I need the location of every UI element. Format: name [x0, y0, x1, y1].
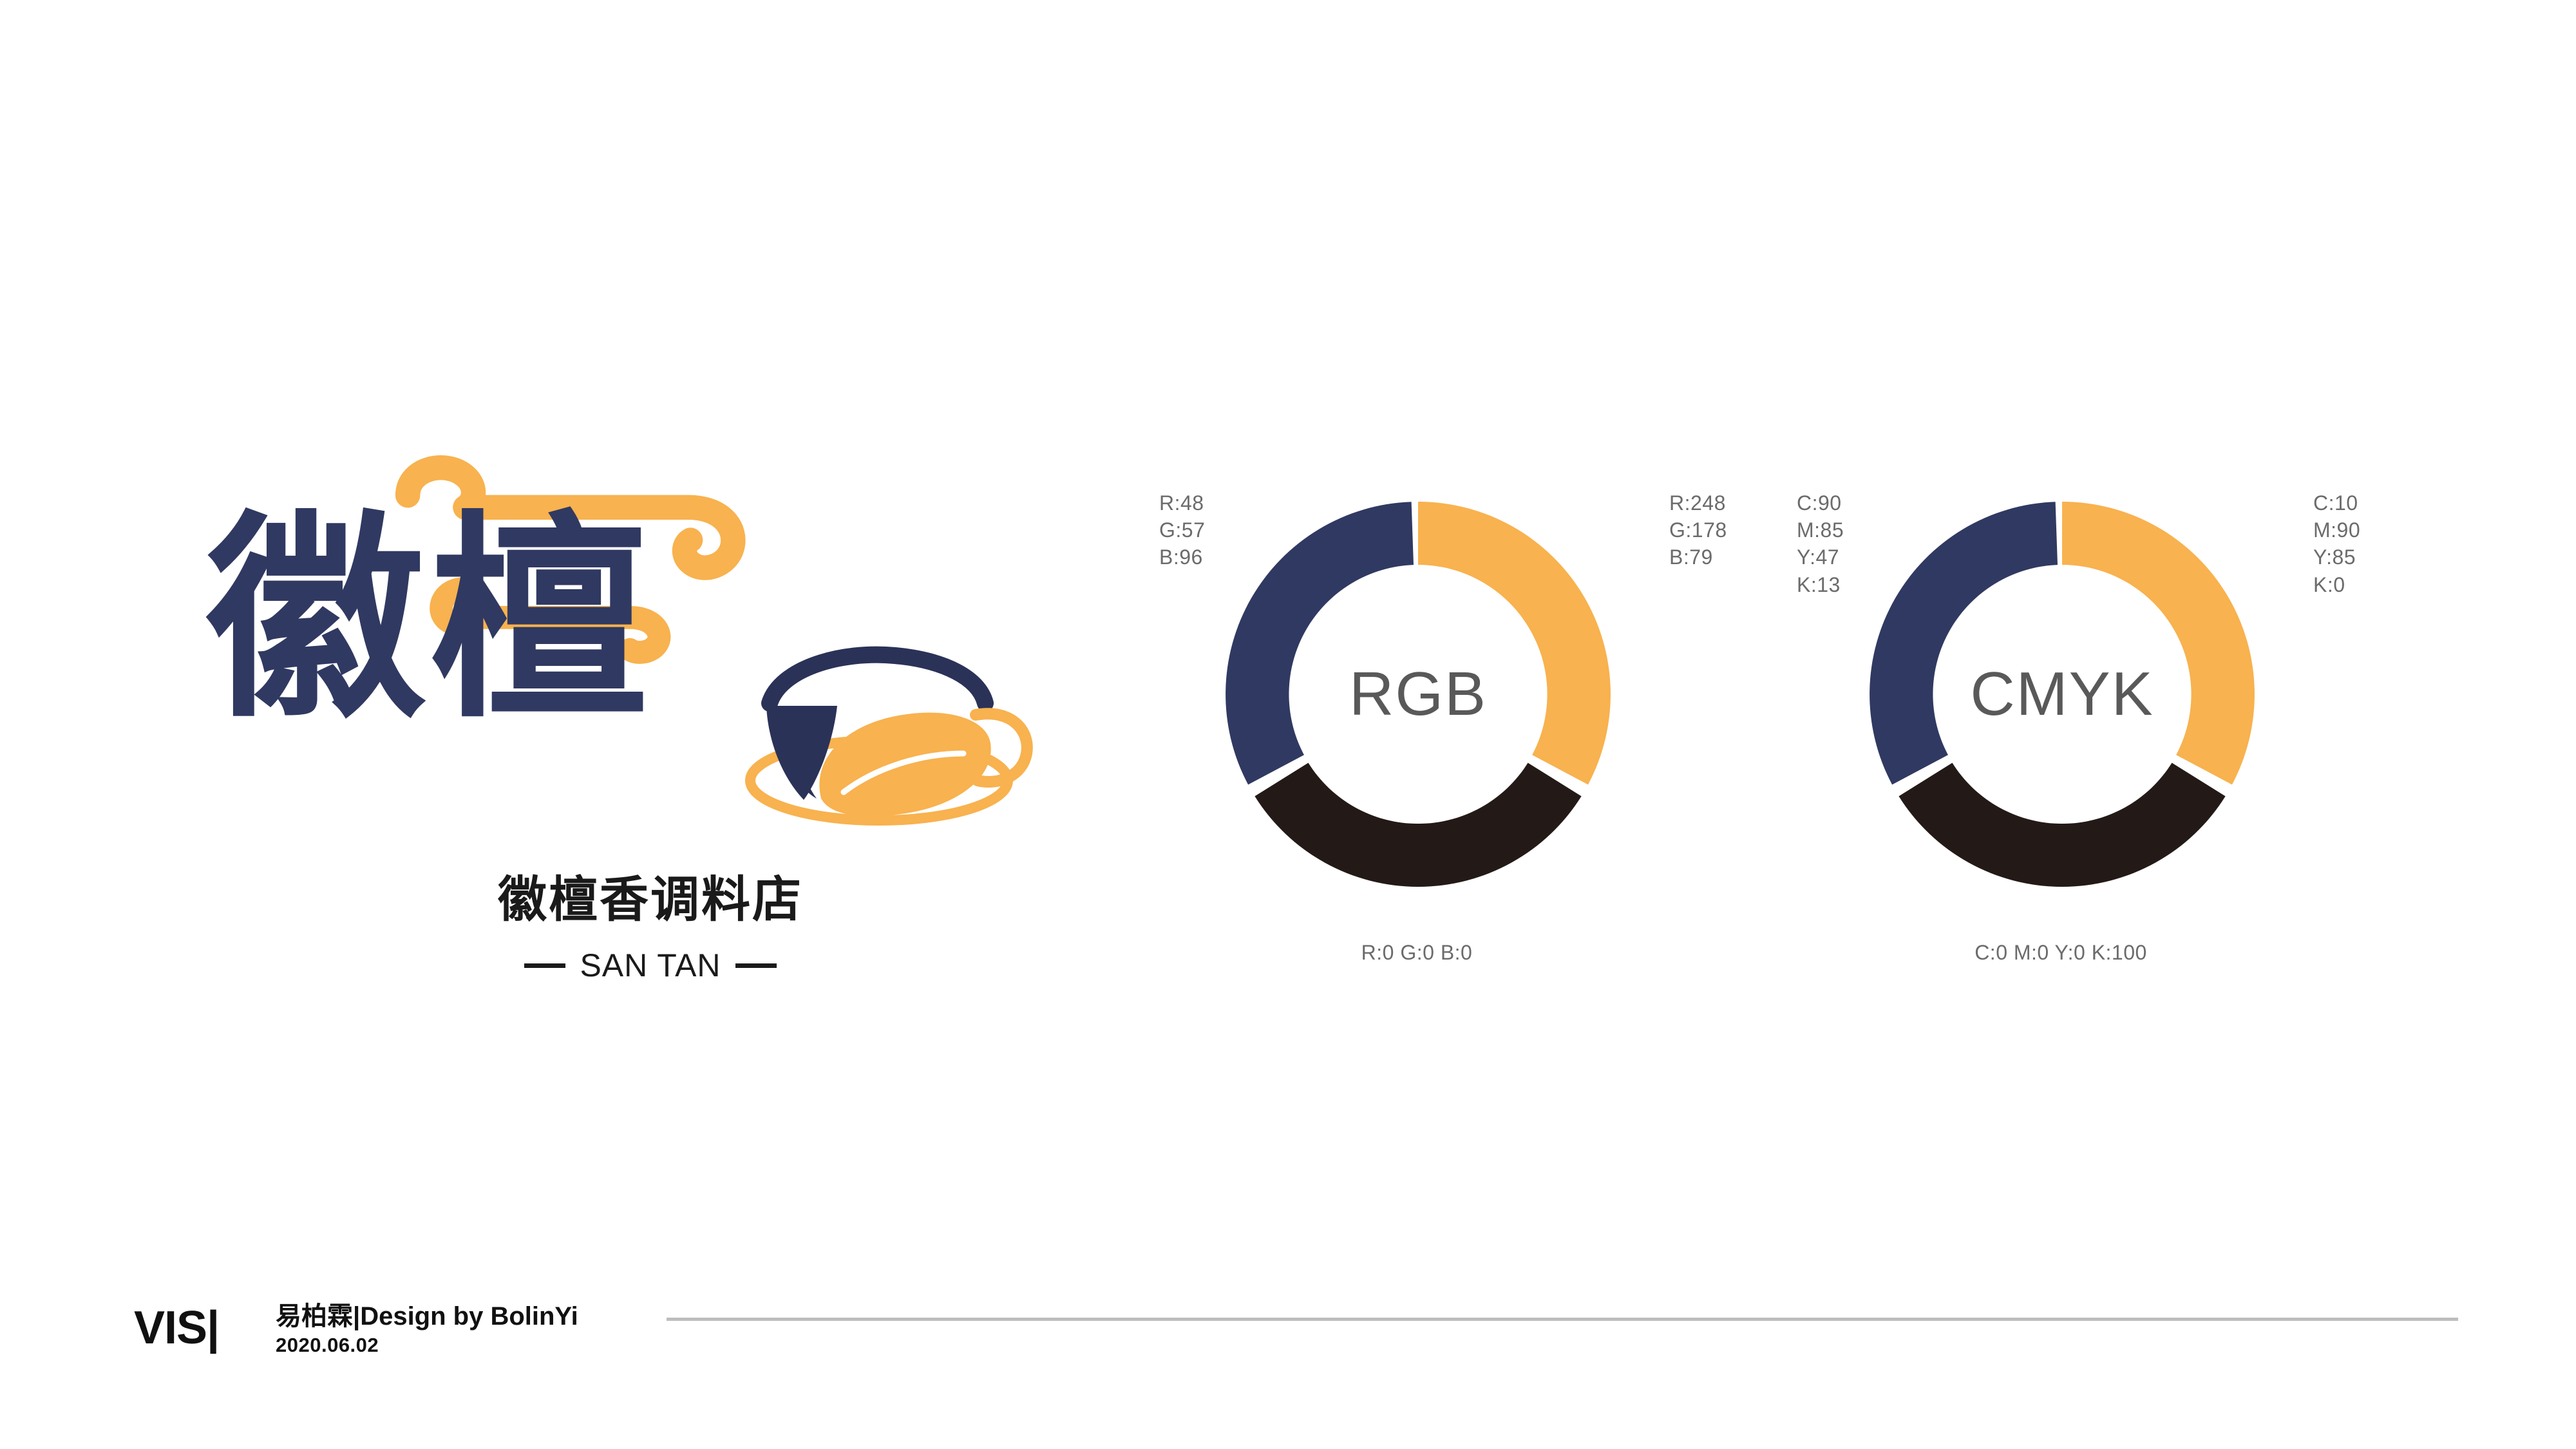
cup-rim-icon — [770, 655, 985, 703]
rgb-orange-value-label: R:248 G:178 B:79 — [1669, 489, 1727, 571]
page-footer: VIS| 易柏霖|Design by BolinYi 2020.06.02 — [0, 1294, 2576, 1397]
dash-left-icon — [524, 963, 565, 968]
rgb-donut-svg — [1193, 469, 1643, 920]
cmyk-donut-svg — [1837, 469, 2287, 920]
brand-logo-block: 徽檀 徽檀香调料店 SAN TAN — [193, 348, 1108, 1043]
cmyk-color-donut: CMYK — [1837, 469, 2287, 920]
footer-credit-stack: 易柏霖|Design by BolinYi 2020.06.02 — [276, 1303, 578, 1355]
rgb-slice-navy — [1226, 502, 1414, 784]
logo-mark: 徽檀 — [193, 348, 1108, 863]
cmyk-orange-value-label: C:10 M:90 Y:85 K:0 — [2313, 489, 2360, 598]
logo-latin-row: SAN TAN — [399, 947, 902, 984]
rgb-color-donut: RGB — [1193, 469, 1643, 920]
rgb-slice-black — [1255, 763, 1581, 887]
cmyk-slice-orange — [2062, 502, 2255, 784]
cmyk-slice-navy — [1870, 502, 2058, 784]
rgb-black-value-label: R:0 G:0 B:0 — [1243, 939, 1591, 966]
cmyk-black-value-label: C:0 M:0 Y:0 K:100 — [1887, 939, 2235, 966]
logo-primary-characters: 徽檀 — [203, 498, 652, 743]
footer-date: 2020.06.02 — [276, 1335, 578, 1355]
footer-designer-credit: 易柏霖|Design by BolinYi — [276, 1303, 578, 1329]
cmyk-navy-value-label: C:90 M:85 Y:47 K:13 — [1797, 489, 1844, 598]
logo-wordmark: 徽檀香调料店 — [399, 876, 902, 925]
logo-latin-name: SAN TAN — [580, 947, 721, 984]
rgb-navy-value-label: R:48 G:57 B:96 — [1159, 489, 1205, 571]
footer-divider-rule — [667, 1318, 2458, 1321]
rgb-slice-orange — [1418, 502, 1611, 784]
dash-right-icon — [735, 963, 777, 968]
cmyk-slice-black — [1899, 763, 2225, 887]
footer-vis-label: VIS| — [134, 1305, 219, 1351]
